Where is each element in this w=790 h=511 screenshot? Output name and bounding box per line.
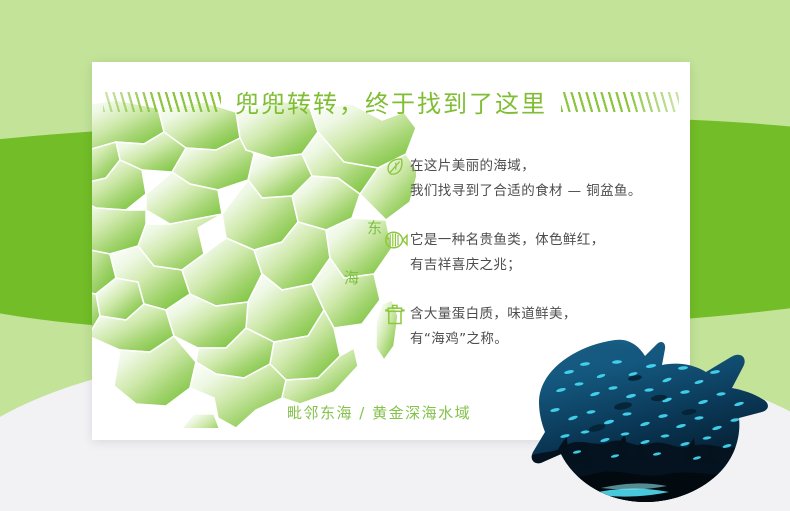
list-item-line: 有“海鸡”之称。 bbox=[410, 331, 508, 347]
map-label-hai: 海 bbox=[344, 267, 360, 288]
list-item-line: 在这片美丽的海域， bbox=[410, 158, 535, 174]
hatch-right-icon bbox=[561, 92, 679, 112]
list-item-line: 含大量蛋白质，味道鲜美， bbox=[410, 306, 577, 322]
card-header: 兜兜转转，终于找到了这里 bbox=[92, 84, 690, 119]
list-item-line: 有吉祥喜庆之兆； bbox=[410, 257, 521, 273]
china-map bbox=[92, 98, 416, 428]
underwater-fish-school-photo bbox=[517, 332, 790, 511]
leaf-icon bbox=[384, 156, 410, 178]
hatch-left-icon bbox=[103, 92, 221, 112]
list-item: 在这片美丽的海域， 我们找寻到了合适的食材 — 铜盆鱼。 bbox=[384, 154, 684, 204]
footer-caption: 毗邻东海 / 黄金深海水域 bbox=[287, 402, 471, 423]
list-item-line: 我们找寻到了合适的食材 — 铜盆鱼。 bbox=[410, 183, 642, 199]
list-item: 它是一种名贵鱼类，体色鲜红， 有吉祥喜庆之兆； bbox=[384, 228, 684, 278]
poster-stage: 东 海 兜兜转转，终于找到了这里 在这片美丽的海域， 我们找寻到了 bbox=[0, 0, 790, 511]
page-title: 兜兜转转，终于找到了这里 bbox=[235, 84, 547, 119]
pot-icon bbox=[384, 304, 410, 326]
map-label-dong: 东 bbox=[367, 217, 383, 238]
list-item-text: 它是一种名贵鱼类，体色鲜红， 有吉祥喜庆之兆； bbox=[410, 228, 605, 278]
list-item-text: 在这片美丽的海域， 我们找寻到了合适的食材 — 铜盆鱼。 bbox=[410, 154, 642, 204]
fish-icon bbox=[384, 230, 410, 250]
list-item-line: 它是一种名贵鱼类，体色鲜红， bbox=[410, 232, 605, 248]
